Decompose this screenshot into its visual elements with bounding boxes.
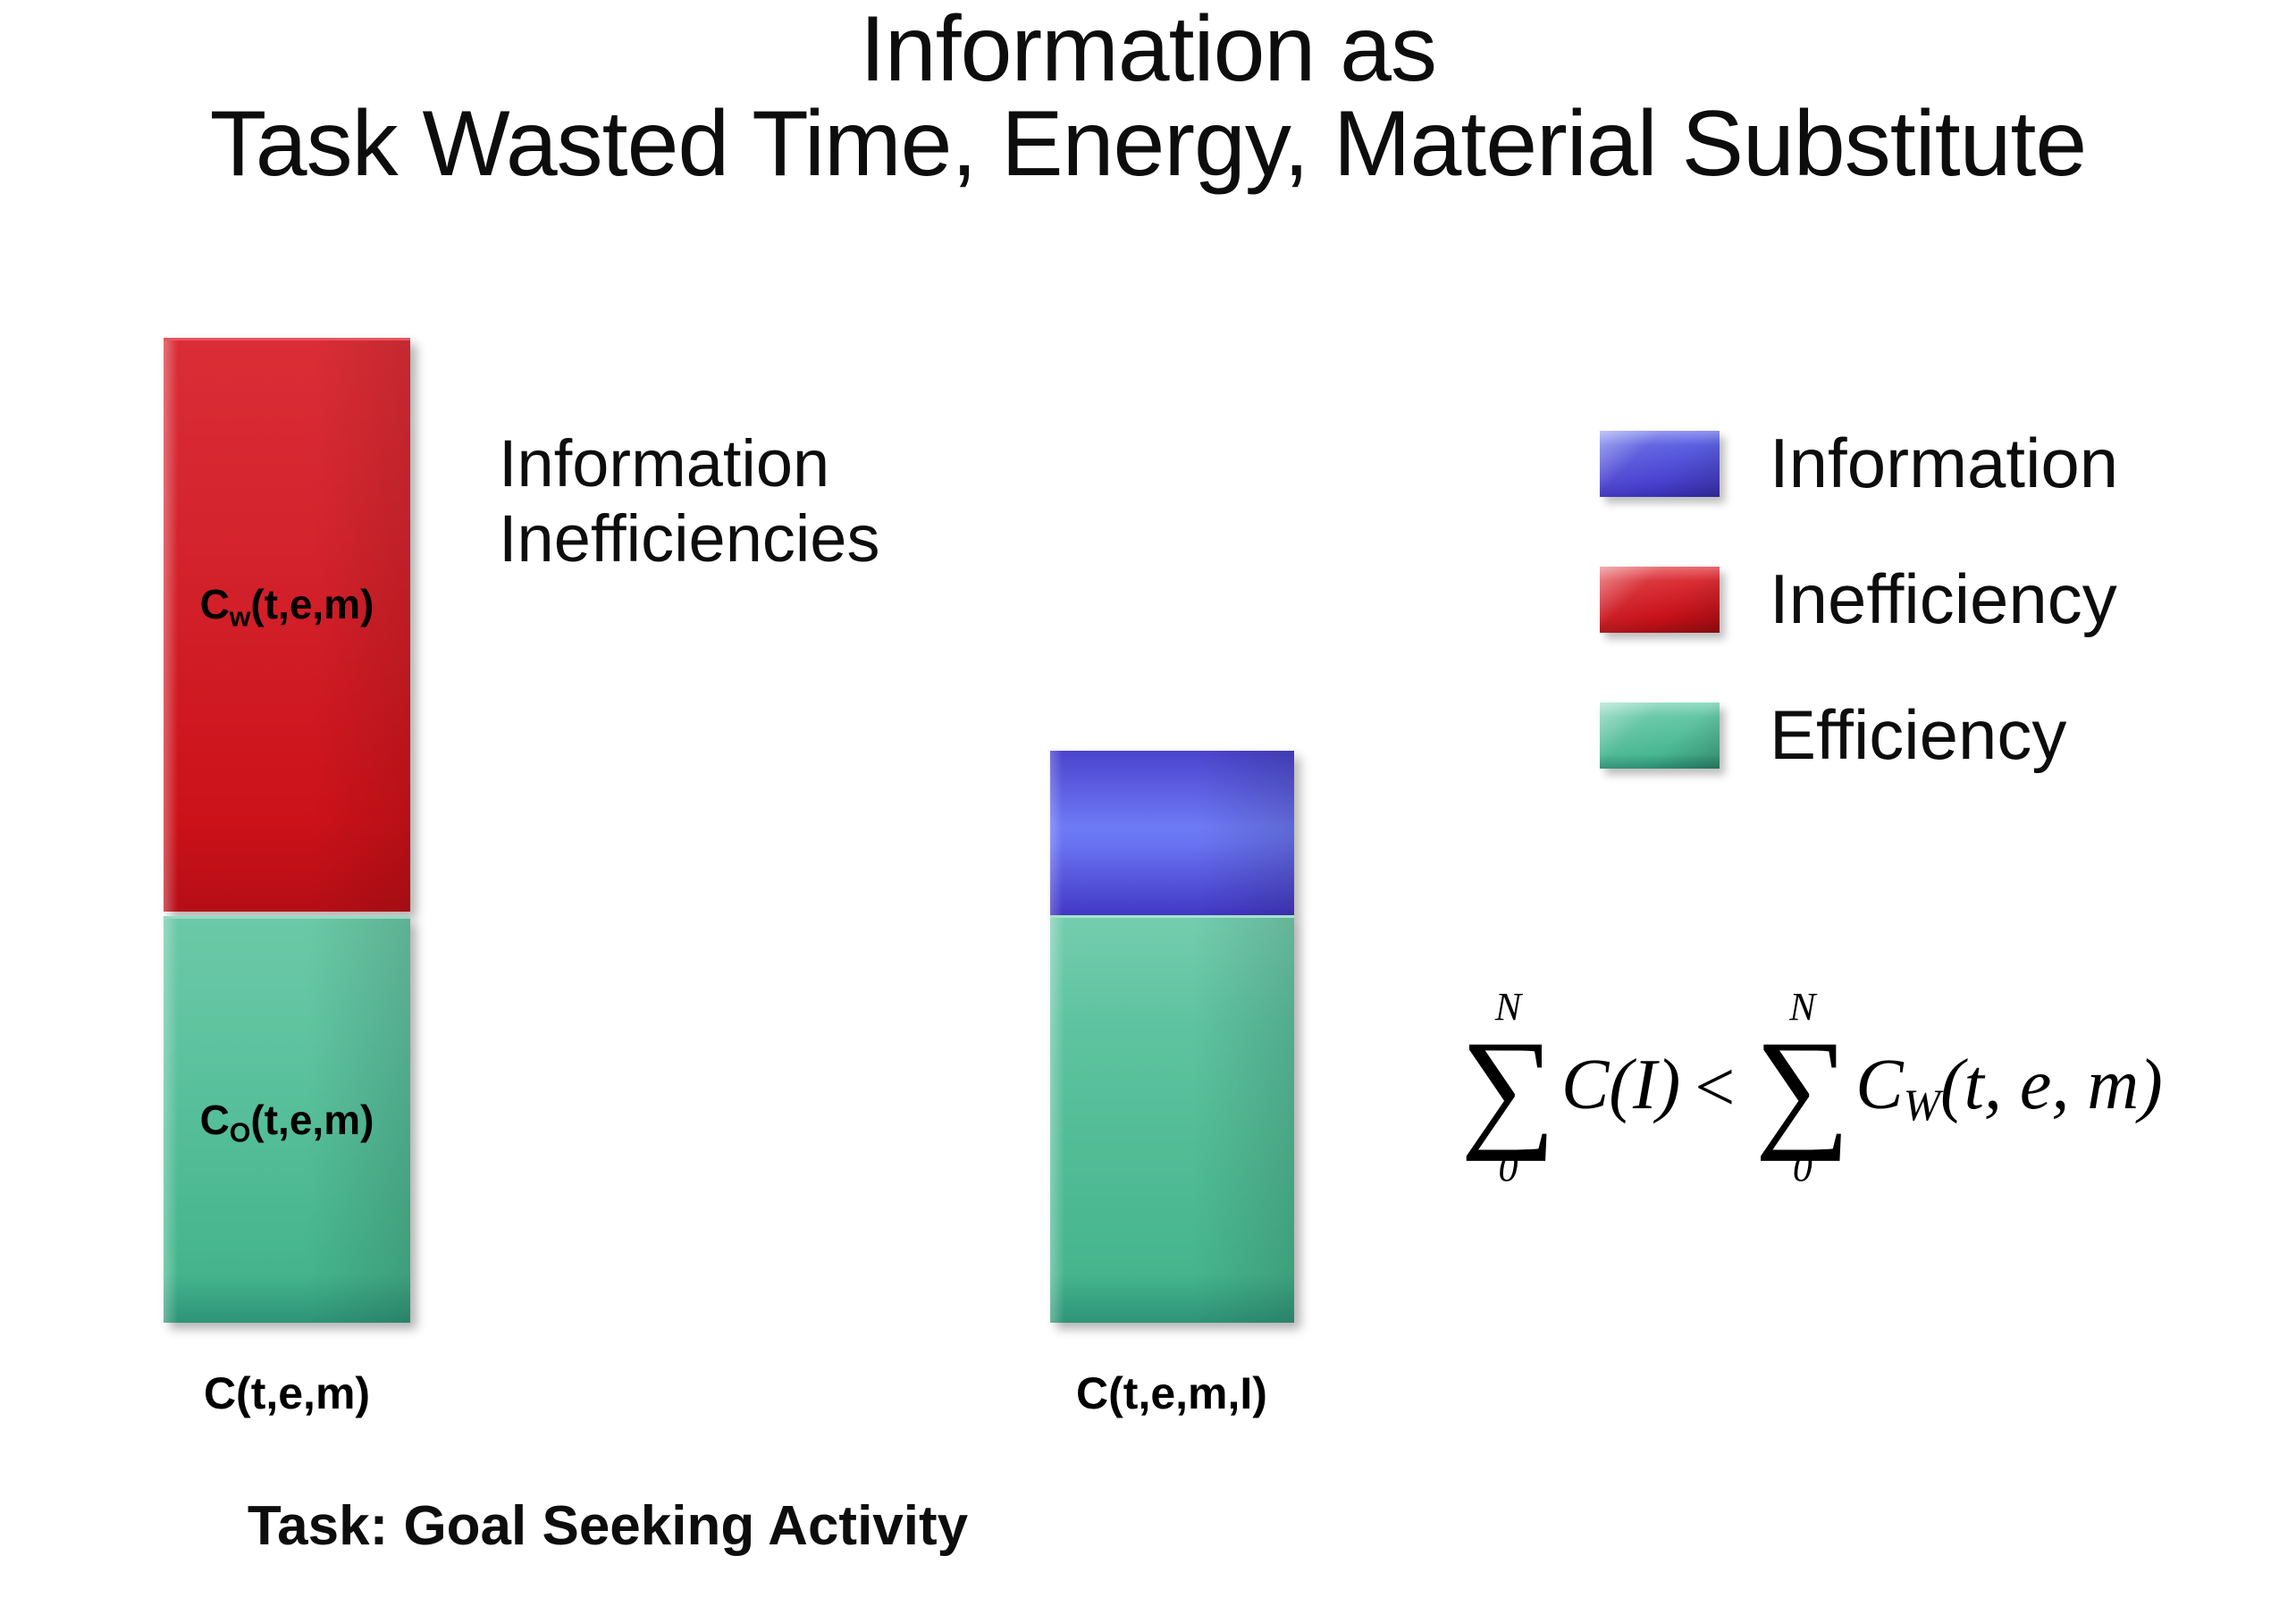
equation-left-term: C(I) (1561, 1045, 1680, 1131)
label-subscript: O (230, 1119, 251, 1148)
page-title: Information as Task Wasted Time, Energy,… (0, 2, 2296, 191)
slide-canvas: Information as Task Wasted Time, Energy,… (0, 0, 2296, 1598)
label-base: C (200, 1097, 230, 1143)
term-base: C (1561, 1046, 1609, 1124)
bar-1-segment-inefficiency: Cw(t,e,m) (164, 338, 410, 912)
annotation-line-1: Information (499, 426, 879, 501)
term-tail: (t, e, m) (1940, 1046, 2163, 1124)
label-base: C (200, 581, 230, 627)
bar-2-segment-efficiency (1050, 915, 1294, 1323)
term-tail: (I) (1609, 1046, 1680, 1124)
label-tail: (t,e,m) (250, 581, 374, 627)
equation-right-term: CW(t, e, m) (1855, 1045, 2162, 1131)
bar-2-caption: C(t,e,m,I) (968, 1367, 1375, 1419)
title-line-2: Task Wasted Time, Energy, Material Subst… (0, 97, 2296, 191)
red-square-icon (1600, 567, 1720, 633)
annotation-line-2: Inefficiencies (499, 501, 879, 576)
label-subscript: w (230, 603, 251, 633)
legend-label-efficiency: Efficiency (1770, 690, 2066, 779)
bar-2-segment-information (1050, 751, 1294, 915)
blue-square-icon (1600, 431, 1720, 497)
label-tail: (t,e,m) (250, 1097, 374, 1143)
summation-left: N ∑ 0 (1460, 988, 1556, 1188)
legend-label-inefficiency: Inefficiency (1770, 554, 2117, 643)
term-base: C (1855, 1046, 1903, 1124)
bar-1-efficiency-label: CO(t,e,m) (164, 1096, 410, 1149)
legend-label-information: Information (1770, 418, 2118, 508)
bar-1-segment-efficiency: CO(t,e,m) (164, 916, 410, 1323)
bar-1-caption: C(t,e,m) (83, 1367, 491, 1419)
equation-relation-operator: < (1695, 1047, 1735, 1129)
equation-information-cost-inequality: N ∑ 0 C(I) < N ∑ 0 CW(t, e, m) (1457, 988, 2165, 1188)
green-square-icon (1600, 702, 1720, 769)
term-subscript: W (1904, 1081, 1940, 1130)
sigma-icon: ∑ (1754, 1029, 1850, 1147)
title-line-1: Information as (0, 2, 2296, 97)
bar-1-inefficiency-label: Cw(t,e,m) (164, 580, 410, 634)
footer-task-definition: Task: Goal Seeking Activity (0, 1494, 1215, 1558)
sigma-icon: ∑ (1460, 1029, 1556, 1147)
summation-left-lower-limit: 0 (1498, 1148, 1518, 1188)
summation-right: N ∑ 0 (1754, 988, 1850, 1188)
annotation-information-inefficiencies: Information Inefficiencies (499, 426, 879, 576)
summation-right-lower-limit: 0 (1793, 1148, 1812, 1188)
